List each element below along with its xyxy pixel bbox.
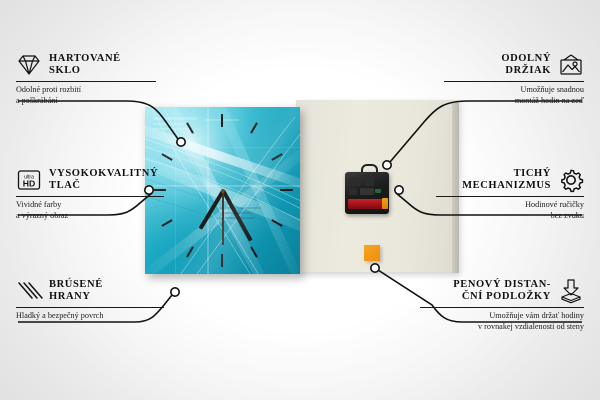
divider <box>420 307 584 308</box>
callout-title: HARTOVANÉ SKLO <box>49 53 121 78</box>
callout-title: TICHÝ MECHANIZMUS <box>436 168 551 193</box>
callout-desc-line2: a výrazný obraz <box>16 211 164 222</box>
connector-node-edges <box>171 288 179 296</box>
diamond-icon <box>16 52 42 78</box>
callout-head: ODOLNÝ DRŽIAK <box>444 52 584 78</box>
picture-hanger-icon <box>558 52 584 78</box>
hands-center-pin <box>221 189 225 193</box>
battery <box>348 199 384 209</box>
callout-desc-line1: Odolné proti rozbití <box>16 85 156 96</box>
hd-label: HD <box>23 179 35 189</box>
callout-title: BRÚSENÉ HRANY <box>49 279 103 304</box>
wall-clock <box>145 107 300 274</box>
callout-desc-line2: bez zvuku <box>436 211 584 222</box>
callout-durable-holder[interactable]: ODOLNÝ DRŽIAK Umožňuje snadnou montáž ho… <box>444 52 584 106</box>
callout-desc-line1: Hodinové ručičky <box>436 200 584 211</box>
callout-ground-edges[interactable]: BRÚSENÉ HRANY Hladký a bezpečný povrch <box>16 278 164 322</box>
callout-desc-line1: Hladký a bezpečný povrch <box>16 311 164 322</box>
foam-spacer-pad <box>364 245 380 261</box>
callout-hardened-glass[interactable]: HARTOVANÉ SKLO Odolné proti rozbití a po… <box>16 52 156 106</box>
callout-high-quality-print[interactable]: ultra HD VYSOKOKVALITNÝ TLAČ Vividné far… <box>16 167 164 221</box>
divider <box>444 81 584 82</box>
callout-desc-line2: v rovnakej vzdialenosti od steny <box>420 322 584 333</box>
callout-title: ODOLNÝ DRŽIAK <box>444 53 551 78</box>
gear-icon <box>558 167 584 193</box>
callout-head: TICHÝ MECHANIZMUS <box>436 167 584 193</box>
divider <box>16 196 164 197</box>
arrow-down-layers-icon <box>558 278 584 304</box>
callout-desc-line1: Umožňuje snadnou <box>444 85 584 96</box>
divider <box>16 81 156 82</box>
divider <box>16 307 164 308</box>
callout-foam-spacers[interactable]: PENOVÝ DISTAN- ČNÍ PODLOŽKY Umožňuje vám… <box>420 278 584 332</box>
callout-title: VYSOKOKVALITNÝ TLAČ <box>49 168 158 193</box>
ultra-hd-icon: ultra HD <box>16 167 42 193</box>
callout-desc-line2: a poškrábání <box>16 96 156 107</box>
battery-terminal <box>382 198 388 209</box>
divider <box>436 196 584 197</box>
second-hand <box>222 190 224 245</box>
callout-head: HARTOVANÉ SKLO <box>16 52 156 78</box>
callout-head: BRÚSENÉ HRANY <box>16 278 164 304</box>
callout-desc-line2: montáž hodin na zeď <box>444 96 584 107</box>
product-infographic: HARTOVANÉ SKLO Odolné proti rozbití a po… <box>0 0 600 400</box>
diagonal-lines-icon <box>16 278 42 304</box>
callout-silent-mechanism[interactable]: TICHÝ MECHANIZMUS Hodinové ručičky bez z… <box>436 167 584 221</box>
callout-head: ultra HD VYSOKOKVALITNÝ TLAČ <box>16 167 164 193</box>
callout-head: PENOVÝ DISTAN- ČNÍ PODLOŽKY <box>420 278 584 304</box>
callout-desc-line1: Vividné farby <box>16 200 164 211</box>
callout-title: PENOVÝ DISTAN- ČNÍ PODLOŽKY <box>420 279 551 304</box>
callout-desc-line1: Umožňuje vám držať hodiny <box>420 311 584 322</box>
